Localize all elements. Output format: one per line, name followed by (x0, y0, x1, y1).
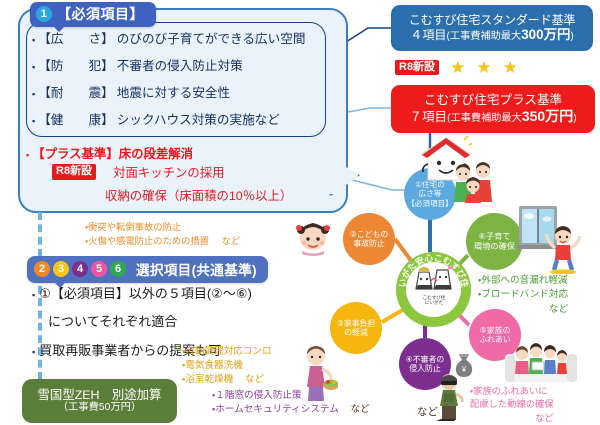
family-sofa-illustration (505, 340, 577, 388)
annotation-child-safety-line1: ・衝突や転倒事故の防止 (85, 221, 240, 235)
annotation-security: ・１階窓の侵入防止策 ・ホームセキュリティシステム など (212, 389, 370, 417)
wheel-node-2-line1: ②こどもの (350, 230, 389, 239)
wheel-node-2[interactable]: ②こどもの 事故防止 (343, 213, 395, 265)
square-bullet-icon: ▪ (32, 54, 35, 81)
standard-paren-open: (工事費補助最大 (447, 31, 522, 42)
plus-amount: 350万円 (522, 108, 573, 124)
wheel-node-6-line2: 環境の確保 (474, 242, 515, 252)
badge-number-1: 1 (36, 6, 52, 22)
plus-criteria-line2: 対面キッチンの採用 (113, 163, 225, 181)
list-item: ▪ 【防 犯】 不審者の侵入防止対策 (32, 53, 332, 80)
wheel-node-6-line1: ⑥子育て (479, 232, 511, 242)
star-icon: ★ (450, 59, 465, 76)
selection-row1-line2: についてそれぞれ適合 (48, 311, 282, 330)
woman-housework-illustration (298, 345, 338, 403)
square-bullet-icon: ▪ (32, 27, 35, 54)
plus-criteria-box: こむすび住宅プラス基準 ７項目(工事費補助最大350万円) (391, 85, 595, 133)
standard-line1: こむすび住宅スタンダード基準 (409, 13, 576, 28)
star-icon: ★ (503, 59, 518, 76)
wheel-node-5-line1: ⑤家族の (480, 326, 511, 335)
standard-item-count: ４項目 (410, 28, 446, 42)
jumping-boy-illustration (544, 226, 582, 274)
svg-text:¥: ¥ (461, 365, 467, 374)
required-items-header: 1 【必須項目】 (30, 2, 156, 27)
annotation-family-nado: など (470, 412, 554, 425)
plus-box-line2: ７項目(工事費補助最大350万円) (409, 108, 576, 125)
required-item-tag: 【防 犯】 (38, 53, 114, 80)
annotation-housework-line1: ・自動調理対応コンロ (182, 345, 272, 359)
list-item: ▪ 【広 さ】 のびのび子育てができる広い空間 (32, 26, 332, 53)
money-bag-illustration: ¥ (452, 352, 476, 378)
family-group-illustration (452, 162, 502, 204)
badge-number-2: 2 (34, 261, 50, 277)
emblem-inner-logo: こむすび住 にいがた (406, 262, 461, 317)
annotation-environment-line1: ・外部への音漏れ軽減 (478, 274, 568, 288)
annotation-child-safety-nado: など (222, 236, 241, 246)
plus-item-count: ７項目 (409, 110, 447, 124)
plus-box-line1: こむすび住宅プラス基準 (424, 93, 562, 108)
annotation-security-line2: ・ホームセキュリティシステム (212, 404, 339, 415)
wheel-node-3-line2: の軽減 (344, 328, 368, 337)
required-item-text: 地震に対する安全性 (117, 80, 230, 107)
annotation-security-line1: ・１階窓の侵入防止策 (212, 389, 370, 403)
plus-criteria-line3: 収納の確保（床面積の10％以上） (105, 186, 292, 204)
plus-criteria-label: 【プラス基準】床の段差解消 (32, 144, 193, 162)
square-bullet-icon: ▪ (32, 339, 35, 366)
standard-paren-close: ) (570, 31, 573, 42)
r8-new-badge: R8新設 (395, 60, 439, 76)
plus-paren-close: ) (573, 113, 576, 124)
square-bullet-icon: ▪ (32, 108, 35, 135)
required-item-text: シックハウス対策の実施など (117, 107, 280, 134)
badge-number-5: 5 (91, 261, 107, 277)
wheel-node-1-line3: 【必須項目】 (407, 199, 453, 208)
burglar-illustration (432, 372, 468, 422)
annotation-child-safety: ・衝突や転倒事故の防止 ・火傷や感電防止のための措置 など (85, 221, 240, 249)
annotation-child-safety-line2: ・火傷や感電防止のための措置 (85, 236, 209, 246)
wheel-node-6[interactable]: ⑥子育て 環境の確保 (466, 213, 523, 270)
required-item-tag: 【耐 震】 (38, 80, 114, 107)
wheel-node-4-line1: ④不審者の (406, 355, 445, 364)
svg-text:にいがた: にいがた (424, 299, 443, 306)
annotation-housework-line3: ・浴室乾燥機 (182, 374, 233, 385)
standard-line2: ４項目(工事費補助最大300万円) (410, 27, 574, 43)
annotation-housework: ・自動調理対応コンロ ・電気食器洗機 ・浴室乾燥機 など (182, 345, 272, 387)
standard-criteria-box: こむすび住宅スタンダード基準 ４項目(工事費補助最大300万円) (391, 5, 593, 51)
onigiri-couple-icon: こむすび住 にいがた (407, 263, 461, 317)
selection-items-header: 2 3 4 5 6 選択項目(共通基準) (27, 256, 268, 283)
list-item: ▪ ①【必須項目】以外の５項目(②～⑥) (32, 282, 282, 309)
list-item: ▪ 【耐 震】 地震に対する安全性 (32, 80, 332, 107)
badge-number-6: 6 (110, 261, 126, 277)
required-items-list: ▪ 【広 さ】 のびのび子育てができる広い空間 ▪ 【防 犯】 不審者の侵入防止… (32, 26, 332, 134)
square-bullet-icon: ▪ (32, 81, 35, 108)
center-emblem: にいがた安心こむすび住宅 既存住宅 こむすび住 にいがた (396, 252, 471, 327)
required-item-tag: 【健 康】 (38, 107, 114, 134)
wheel-node-2-line2: 事故防止 (353, 239, 385, 248)
annotation-housework-nado: など (245, 374, 264, 385)
girl-child-illustration (292, 218, 334, 258)
annotation-family-line2: 配慮した動線の確保 (470, 398, 554, 411)
wheel-node-1-line2: 広さ等 (419, 189, 442, 198)
list-item: ▪ 【健 康】 シックハウス対策の実施など (32, 107, 332, 134)
required-item-tag: 【広 さ】 (38, 26, 114, 53)
selection-row1-line1: ①【必須項目】以外の５項目(②～⑥) (39, 283, 252, 302)
required-item-text: 不審者の侵入防止対策 (117, 53, 243, 80)
zeh-bonus-box: 雪国型ZEH 別途加算 （工事費50万円） (22, 379, 177, 423)
badge-number-4: 4 (72, 261, 88, 277)
annotation-environment-line2: ・ブロードバンド対応 (478, 288, 568, 302)
square-bullet-icon: ▪ (32, 282, 35, 309)
r8-new-badge: R8新設 (52, 164, 96, 180)
badge-number-3: 3 (53, 261, 69, 277)
annotation-security-nado: など (351, 404, 370, 415)
infographic-canvas: 1 【必須項目】 ▪ 【広 さ】 のびのび子育てができる広い空間 ▪ 【防 犯】… (0, 0, 600, 424)
plus-criteria-line2-row: R8新設 対面キッチンの採用 (52, 163, 225, 181)
plus-paren-open: (工事費補助最大 (447, 113, 522, 124)
required-items-header-label: 【必須項目】 (57, 4, 144, 24)
annotation-housework-line2: ・電気食器洗機 (182, 359, 272, 373)
zeh-line2: （工事費50万円） (58, 402, 142, 414)
selection-items-header-label: 選択項目(共通基準) (136, 259, 257, 279)
r8-new-row: R8新設 ★ ★ ★ (395, 59, 518, 76)
star-icon: ★ (476, 59, 491, 76)
annotation-family: ・家族のふれあいに 配慮した動線の確保 など (470, 385, 554, 425)
standard-amount: 300万円 (521, 27, 570, 42)
required-item-text: のびのび子育てができる広い空間 (117, 26, 306, 53)
square-bullet-icon: ▪ (26, 142, 29, 169)
wheel-node-3-line1: ③家事負担 (337, 319, 376, 328)
zeh-line1: 雪国型ZEH 別途加算 (38, 388, 162, 403)
